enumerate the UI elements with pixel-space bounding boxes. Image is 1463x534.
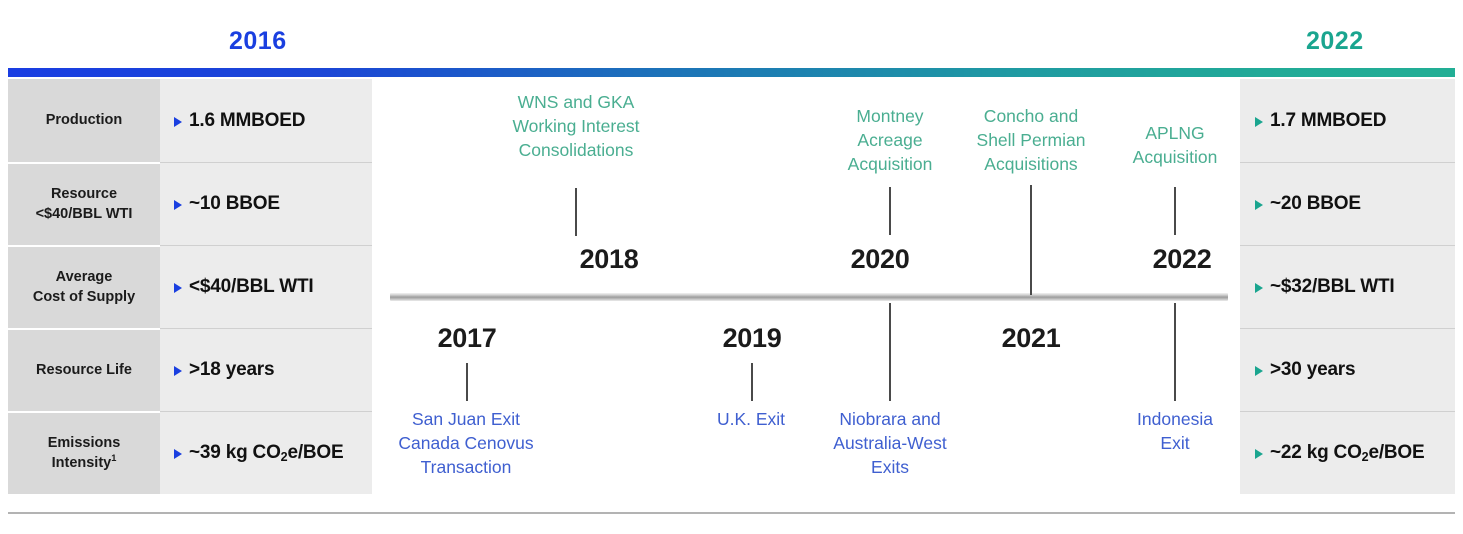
- bullet-triangle-icon: [174, 117, 182, 127]
- bullet-triangle-icon: [1255, 283, 1263, 293]
- metric-value-text: ~10 BBOE: [189, 193, 280, 215]
- event-line: Exit: [1137, 432, 1213, 456]
- metric-value-text: <$40/BBL WTI: [189, 276, 313, 298]
- bullet-triangle-icon: [1255, 200, 1263, 210]
- event-line: Acquisition: [1133, 146, 1218, 170]
- metric-row: ~20 BBOE: [1240, 162, 1455, 245]
- era-end-label: 2022: [1306, 27, 1364, 56]
- bullet-triangle-icon: [1255, 366, 1263, 376]
- metric-value-2022: 1.7 MMBOED: [1240, 79, 1455, 162]
- metric-label-line1: Average: [56, 269, 113, 285]
- event-line: Acreage: [848, 129, 933, 153]
- event-line: Niobrara and: [833, 408, 946, 432]
- bullet-triangle-icon: [174, 283, 182, 293]
- metric-row: 1.7 MMBOED: [1240, 79, 1455, 162]
- event-line: Indonesia: [1137, 408, 1213, 432]
- metric-value-text: ~$32/BBL WTI: [1270, 276, 1394, 298]
- metric-value-text: >30 years: [1270, 359, 1355, 381]
- timeline-connector: [889, 303, 891, 401]
- metric-label: Average Cost of Supply: [8, 245, 160, 328]
- metric-value-text: ~22 kg CO2e/BOE: [1270, 442, 1424, 464]
- metric-row: Resource Life >18 years: [8, 328, 372, 411]
- metric-label-line2: Cost of Supply: [33, 289, 135, 305]
- metric-row: Resource <$40/BBL WTI ~10 BBOE: [8, 162, 372, 245]
- bullet-triangle-icon: [174, 366, 182, 376]
- metric-label: Production: [8, 79, 160, 162]
- timeline-year-2020: 2020: [851, 244, 910, 275]
- timeline-connector: [889, 187, 891, 235]
- metric-value-subscript: 2: [281, 450, 288, 464]
- event-line: Consolidations: [512, 139, 639, 163]
- timeline-year-2018: 2018: [580, 244, 639, 275]
- metric-row: Average Cost of Supply <$40/BBL WTI: [8, 245, 372, 328]
- metric-value-2016: <$40/BBL WTI: [160, 245, 372, 328]
- timeline-event-above: Concho and Shell Permian Acquisitions: [977, 105, 1086, 176]
- metric-value-2016: ~39 kg CO2e/BOE: [160, 411, 372, 494]
- timeline-infographic: 2016 2022 Production 1.6 MMBOED Resource…: [0, 0, 1463, 534]
- metric-value-2022: ~20 BBOE: [1240, 162, 1455, 245]
- metric-row: ~22 kg CO2e/BOE: [1240, 411, 1455, 494]
- metrics-panel-2022: 1.7 MMBOED ~20 BBOE ~$32/BBL WTI >30 yea…: [1240, 79, 1455, 494]
- event-line: U.K. Exit: [717, 408, 785, 432]
- bullet-triangle-icon: [174, 200, 182, 210]
- timeline-event-above: APLNG Acquisition: [1133, 122, 1218, 170]
- era-start-label: 2016: [229, 27, 287, 56]
- event-line: San Juan Exit: [398, 408, 533, 432]
- timeline-event-below: San Juan Exit Canada Cenovus Transaction: [398, 408, 533, 479]
- metric-value-text: ~20 BBOE: [1270, 193, 1361, 215]
- event-line: Canada Cenovus: [398, 432, 533, 456]
- metric-value-text: >18 years: [189, 359, 274, 381]
- metric-label-line2: <$40/BBL WTI: [36, 206, 133, 222]
- metric-label-line2: Intensity: [52, 455, 112, 471]
- metric-value-prefix: ~39 kg CO: [189, 442, 281, 463]
- metric-value-subscript: 2: [1362, 450, 1369, 464]
- bullet-triangle-icon: [1255, 117, 1263, 127]
- timeline-connector: [1174, 187, 1176, 235]
- timeline-connector: [751, 363, 753, 401]
- metric-label-line1: Resource Life: [36, 362, 132, 378]
- metric-row: Production 1.6 MMBOED: [8, 79, 372, 162]
- event-line: Working Interest: [512, 115, 639, 139]
- timeline-event-below: U.K. Exit: [717, 408, 785, 432]
- event-line: WNS and GKA: [512, 91, 639, 115]
- timeline-year-2019: 2019: [723, 323, 782, 354]
- timeline-connector: [1174, 303, 1176, 401]
- metric-value-2022: ~22 kg CO2e/BOE: [1240, 411, 1455, 494]
- timeline-axis-bar: [390, 293, 1228, 301]
- metric-row: >30 years: [1240, 328, 1455, 411]
- bullet-triangle-icon: [1255, 449, 1263, 459]
- event-line: Exits: [833, 456, 946, 480]
- metric-value-suffix: e/BOE: [287, 442, 343, 463]
- timeline-connector: [575, 188, 577, 236]
- metric-value-text: 1.7 MMBOED: [1270, 110, 1386, 132]
- metric-value-2016: 1.6 MMBOED: [160, 79, 372, 162]
- metric-label: Resource <$40/BBL WTI: [8, 162, 160, 245]
- metric-value-suffix: e/BOE: [1368, 442, 1424, 463]
- metrics-panel-2016: Production 1.6 MMBOED Resource <$40/BBL …: [8, 79, 372, 494]
- era-gradient-rule: [8, 68, 1455, 77]
- timeline-event-below: Niobrara and Australia-West Exits: [833, 408, 946, 479]
- timeline-event-above: WNS and GKA Working Interest Consolidati…: [512, 91, 639, 162]
- timeline-year-2017: 2017: [438, 323, 497, 354]
- metric-label-line1: Emissions: [48, 435, 121, 451]
- event-line: Acquisition: [848, 153, 933, 177]
- timeline-year-2022: 2022: [1153, 244, 1212, 275]
- metric-label: Emissions Intensity1: [8, 411, 160, 494]
- metric-label: Resource Life: [8, 328, 160, 411]
- event-line: Concho and: [977, 105, 1086, 129]
- timeline-event-below: Indonesia Exit: [1137, 408, 1213, 456]
- metric-value-2016: ~10 BBOE: [160, 162, 372, 245]
- metric-label-line1: Resource: [51, 186, 117, 202]
- metric-row: Emissions Intensity1 ~39 kg CO2e/BOE: [8, 411, 372, 494]
- metric-value-text: 1.6 MMBOED: [189, 110, 305, 132]
- event-line: Transaction: [398, 456, 533, 480]
- metric-value-2022: >30 years: [1240, 328, 1455, 411]
- metric-value-text: ~39 kg CO2e/BOE: [189, 442, 343, 464]
- timeline-event-above: Montney Acreage Acquisition: [848, 105, 933, 176]
- bullet-triangle-icon: [174, 449, 182, 459]
- event-line: Acquisitions: [977, 153, 1086, 177]
- event-line: Montney: [848, 105, 933, 129]
- metric-label-line1: Production: [46, 112, 123, 128]
- metric-row: ~$32/BBL WTI: [1240, 245, 1455, 328]
- metric-value-2022: ~$32/BBL WTI: [1240, 245, 1455, 328]
- event-line: APLNG: [1133, 122, 1218, 146]
- footnote-marker: 1: [111, 453, 116, 463]
- event-line: Australia-West: [833, 432, 946, 456]
- metric-value-2016: >18 years: [160, 328, 372, 411]
- timeline-year-2021: 2021: [1002, 323, 1061, 354]
- timeline-connector: [466, 363, 468, 401]
- timeline-connector: [1030, 185, 1032, 295]
- metric-value-prefix: ~22 kg CO: [1270, 442, 1362, 463]
- bottom-rule: [8, 512, 1455, 514]
- event-line: Shell Permian: [977, 129, 1086, 153]
